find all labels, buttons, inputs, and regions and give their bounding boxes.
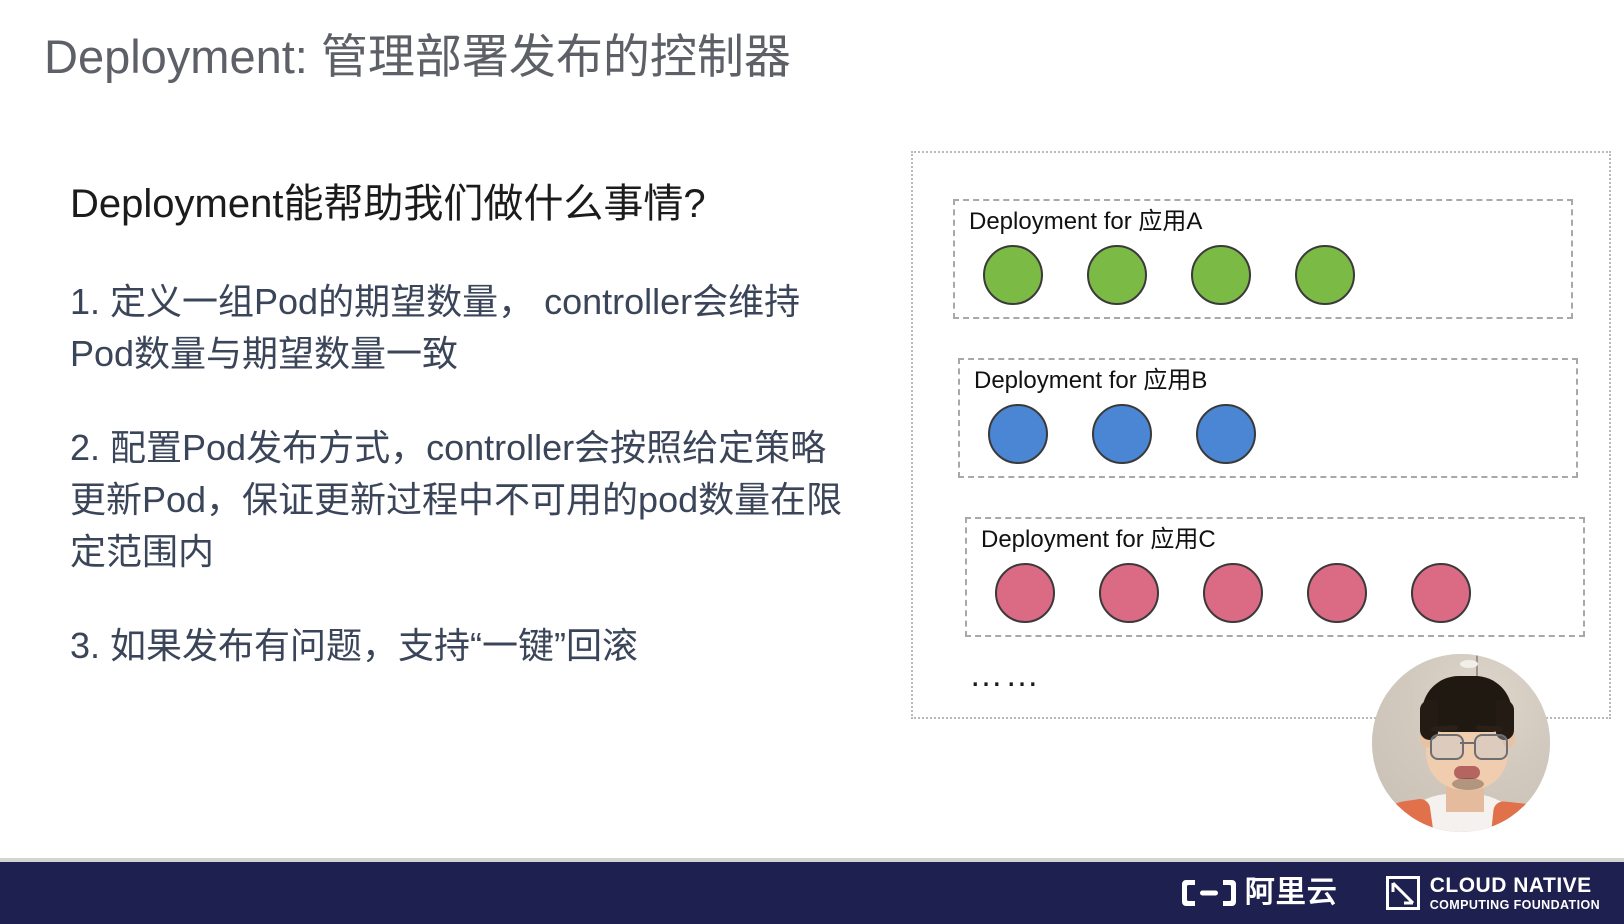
lead-question: Deployment能帮助我们做什么事情? bbox=[70, 178, 860, 230]
cncf-mark-icon bbox=[1386, 876, 1420, 910]
deployment-group-a: Deployment for 应用A bbox=[953, 199, 1573, 319]
cncf-line-2: COMPUTING FOUNDATION bbox=[1430, 899, 1600, 912]
diagram-outer-container: Deployment for 应用A Deployment for 应用B De… bbox=[911, 151, 1611, 719]
deployment-group-c: Deployment for 应用C bbox=[965, 517, 1585, 637]
bullet-item-3: 3. 如果发布有问题，支持“一键”回滚 bbox=[70, 620, 860, 672]
pod-row-b bbox=[988, 404, 1256, 464]
pod-circle bbox=[1307, 563, 1367, 623]
bullet-item-1: 1. 定义一组Pod的期望数量， controller会维持Pod数量与期望数量… bbox=[70, 276, 860, 380]
slide-title: Deployment: 管理部署发布的控制器 bbox=[44, 26, 791, 88]
pod-circle bbox=[983, 245, 1043, 305]
pod-row-a bbox=[983, 245, 1355, 305]
ceiling-lamp bbox=[1460, 660, 1478, 668]
deployment-group-a-label: Deployment for 应用A bbox=[969, 207, 1202, 237]
deployment-group-c-label: Deployment for 应用C bbox=[981, 525, 1216, 555]
cncf-wordmark: CLOUD NATIVE COMPUTING FOUNDATION bbox=[1430, 875, 1600, 912]
glasses-lens-right bbox=[1474, 734, 1508, 760]
pod-circle bbox=[1411, 563, 1471, 623]
bullet-item-2: 2. 配置Pod发布方式，controller会按照给定策略更新Pod，保证更新… bbox=[70, 422, 860, 578]
presenter-webcam-overlay bbox=[1372, 654, 1550, 832]
pod-circle bbox=[1203, 563, 1263, 623]
cncf-logo: CLOUD NATIVE COMPUTING FOUNDATION bbox=[1386, 875, 1600, 912]
alibaba-cloud-logo: 阿里云 bbox=[1181, 878, 1338, 908]
footer-bar: 阿里云 CLOUD NATIVE COMPUTING FOUNDATION bbox=[0, 862, 1624, 924]
alibaba-cloud-mark-icon bbox=[1181, 878, 1237, 908]
presenter-chin-shadow bbox=[1452, 778, 1484, 790]
ellipsis-label: …… bbox=[969, 658, 1041, 692]
pod-circle bbox=[1087, 245, 1147, 305]
alibaba-cloud-label: 阿里云 bbox=[1245, 878, 1338, 908]
cncf-line-1: CLOUD NATIVE bbox=[1430, 875, 1600, 896]
deployment-group-b-label: Deployment for 应用B bbox=[974, 366, 1207, 396]
pod-circle bbox=[988, 404, 1048, 464]
left-text-column: Deployment能帮助我们做什么事情? 1. 定义一组Pod的期望数量， c… bbox=[70, 178, 860, 672]
slide-canvas: Deployment: 管理部署发布的控制器 Deployment能帮助我们做什… bbox=[0, 0, 1624, 924]
pod-circle bbox=[1295, 245, 1355, 305]
deployment-group-b: Deployment for 应用B bbox=[958, 358, 1578, 478]
glasses-lens-left bbox=[1430, 734, 1464, 760]
pod-circle bbox=[995, 563, 1055, 623]
pod-circle bbox=[1191, 245, 1251, 305]
glasses-bridge bbox=[1460, 742, 1474, 744]
pod-circle bbox=[1099, 563, 1159, 623]
pod-circle bbox=[1092, 404, 1152, 464]
pod-circle bbox=[1196, 404, 1256, 464]
pod-row-c bbox=[995, 563, 1471, 623]
